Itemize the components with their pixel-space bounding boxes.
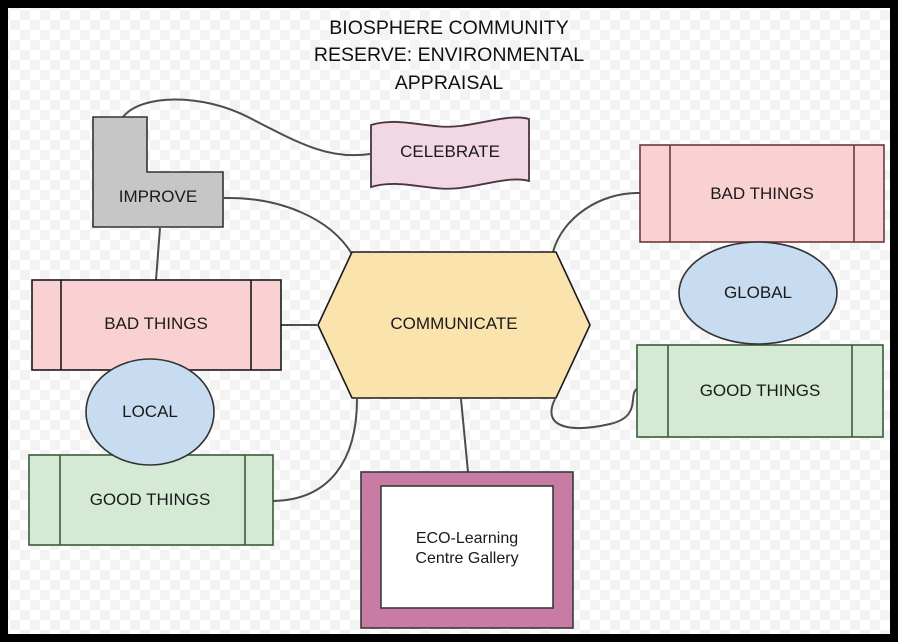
node-bad-things-local[interactable]	[32, 280, 281, 370]
node-eco-learning[interactable]	[361, 472, 573, 628]
node-improve[interactable]	[93, 117, 223, 227]
node-good-things-local[interactable]	[29, 455, 273, 545]
node-communicate[interactable]	[318, 252, 590, 398]
diagram-canvas: BIOSPHERE COMMUNITY RESERVE: ENVIRONMENT…	[0, 0, 898, 642]
node-bad-things-global[interactable]	[640, 145, 884, 242]
node-celebrate[interactable]	[371, 117, 529, 188]
node-local[interactable]	[86, 359, 214, 465]
diagram-title: BIOSPHERE COMMUNITY RESERVE: ENVIRONMENT…	[249, 15, 649, 97]
node-good-things-global[interactable]	[637, 345, 883, 437]
node-global[interactable]	[679, 242, 837, 344]
